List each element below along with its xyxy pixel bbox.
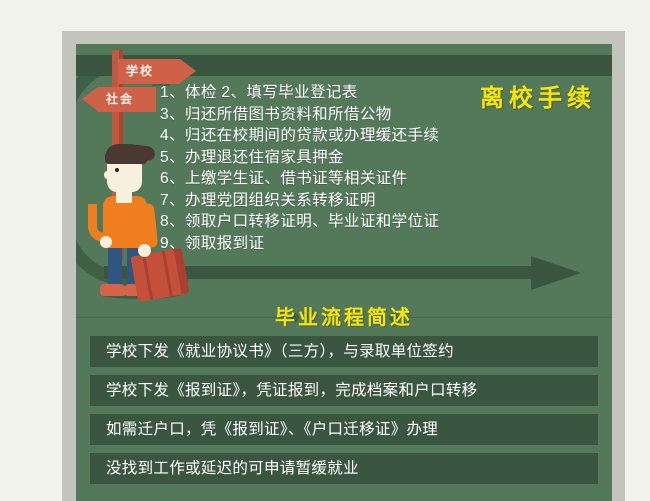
figure-eye — [115, 168, 119, 172]
figure-ear — [104, 171, 110, 179]
checklist-item: 4、归还在校期间的贷款或办理缓还手续 — [160, 125, 560, 147]
signpost-sign-society: 社会 — [98, 87, 156, 112]
figure-hand-left — [100, 236, 112, 248]
checklist-item: 9、领取报到证 — [160, 233, 560, 255]
checklist: 1、体检 2、填写毕业登记表 3、归还所借图书资料和所借公物 4、归还在校期间的… — [160, 82, 560, 254]
section-heading: 毕业流程简述 — [76, 302, 612, 332]
figure-hair — [105, 144, 147, 164]
process-row: 学校下发《报到证》，凭证报到，完成档案和户口转移 — [90, 375, 598, 406]
suitcase-icon — [130, 248, 189, 302]
figure-shoe-left — [100, 284, 126, 296]
checklist-item: 8、领取户口转移证明、毕业证和学位证 — [160, 211, 560, 233]
process-row: 学校下发《就业协议书》（三方），与录取单位签约 — [90, 336, 598, 367]
checklist-item: 5、办理退还住宿家具押金 — [160, 147, 560, 169]
figure-hand-right — [138, 244, 151, 257]
section-heading-label: 毕业流程简述 — [76, 301, 612, 330]
checklist-item: 7、办理党团组织关系转移证明 — [160, 190, 560, 212]
process-row: 没找到工作或延迟的可申请暂缓就业 — [90, 453, 598, 484]
signpost-sign-school: 学校 — [118, 59, 180, 84]
checklist-item: 1、体检 2、填写毕业登记表 — [160, 82, 560, 104]
progress-arrow-head — [531, 256, 581, 290]
checklist-item: 3、归还所借图书资料和所借公物 — [160, 104, 560, 126]
figure-arm-right — [134, 203, 158, 249]
poster-root: 学校 社会 离校手续 1、体检 2、填写毕业登记表 — [0, 0, 650, 501]
process-row: 如需迁户口，凭《报到证》、《户口迁移证》办理 — [90, 414, 598, 445]
process-list: 学校下发《就业协议书》（三方），与录取单位签约 学校下发《报到证》，凭证报到，完… — [90, 336, 598, 492]
checklist-item: 6、上缴学生证、借书证等相关证件 — [160, 168, 560, 190]
poster-board: 学校 社会 离校手续 1、体检 2、填写毕业登记表 — [76, 44, 612, 501]
